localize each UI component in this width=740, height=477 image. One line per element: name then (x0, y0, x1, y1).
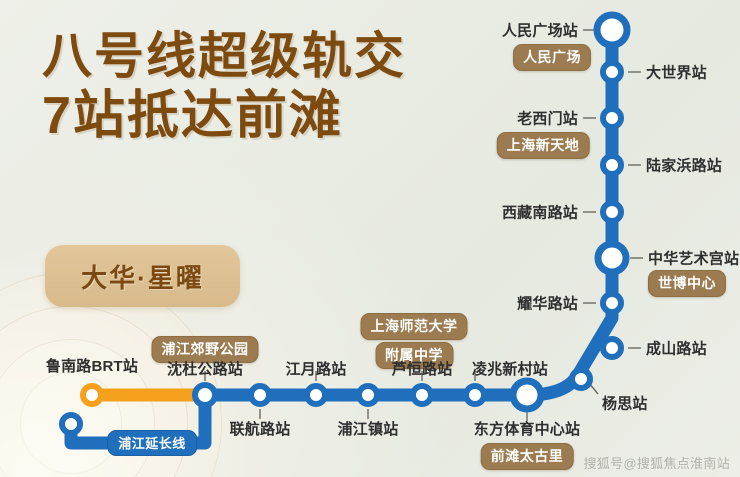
station-label-lianhang: 联航路站 (230, 418, 291, 439)
station-label-shendu: 沈杜公路站 (167, 358, 243, 379)
station-label-laoximen: 老西门站 (517, 108, 578, 129)
poi-badge-shinda-line1: 上海师范大学 (361, 313, 468, 340)
station-label-luheng: 芦恒路站 (392, 358, 453, 379)
station-label-jiangyue: 江月路站 (286, 358, 347, 379)
poi-badge-qiantan: 前滩太古里 (481, 443, 574, 470)
station-label-lingzhao: 凌兆新村站 (472, 358, 548, 379)
station-label-chengshan: 成山路站 (646, 338, 707, 359)
station-label-yangsi: 杨思站 (602, 393, 648, 414)
poi-badge-renmin-square: 人民广场 (513, 44, 591, 71)
station-label-lunan-brt: 鲁南路BRT站 (46, 355, 138, 376)
station-label-lujiabang: 陆家浜路站 (646, 155, 722, 176)
station-label-xizangnan: 西藏南路站 (502, 202, 578, 223)
station-label-dongfang-sports: 东方体育中心站 (474, 418, 580, 439)
line-badge-pujiang-extension: 浦江延长线 (107, 430, 197, 456)
poi-badge-expo-center: 世博中心 (648, 270, 726, 297)
watermark-text: 搜狐号@搜狐焦点淮南站 (584, 453, 731, 472)
station-label-pujiangzhen: 浦江镇站 (338, 418, 399, 439)
poi-badge-xintiandi: 上海新天地 (497, 132, 590, 159)
station-label-dashijie: 大世界站 (646, 62, 707, 83)
station-label-renmin-guangchang: 人民广场站 (502, 20, 578, 41)
poster-canvas: 八号线超级轨交 7站抵达前滩 大华·星曜 (0, 0, 740, 477)
station-label-yaohua: 耀华路站 (517, 293, 578, 314)
station-label-zhonghua-art: 中华艺术宫站 (648, 248, 739, 269)
